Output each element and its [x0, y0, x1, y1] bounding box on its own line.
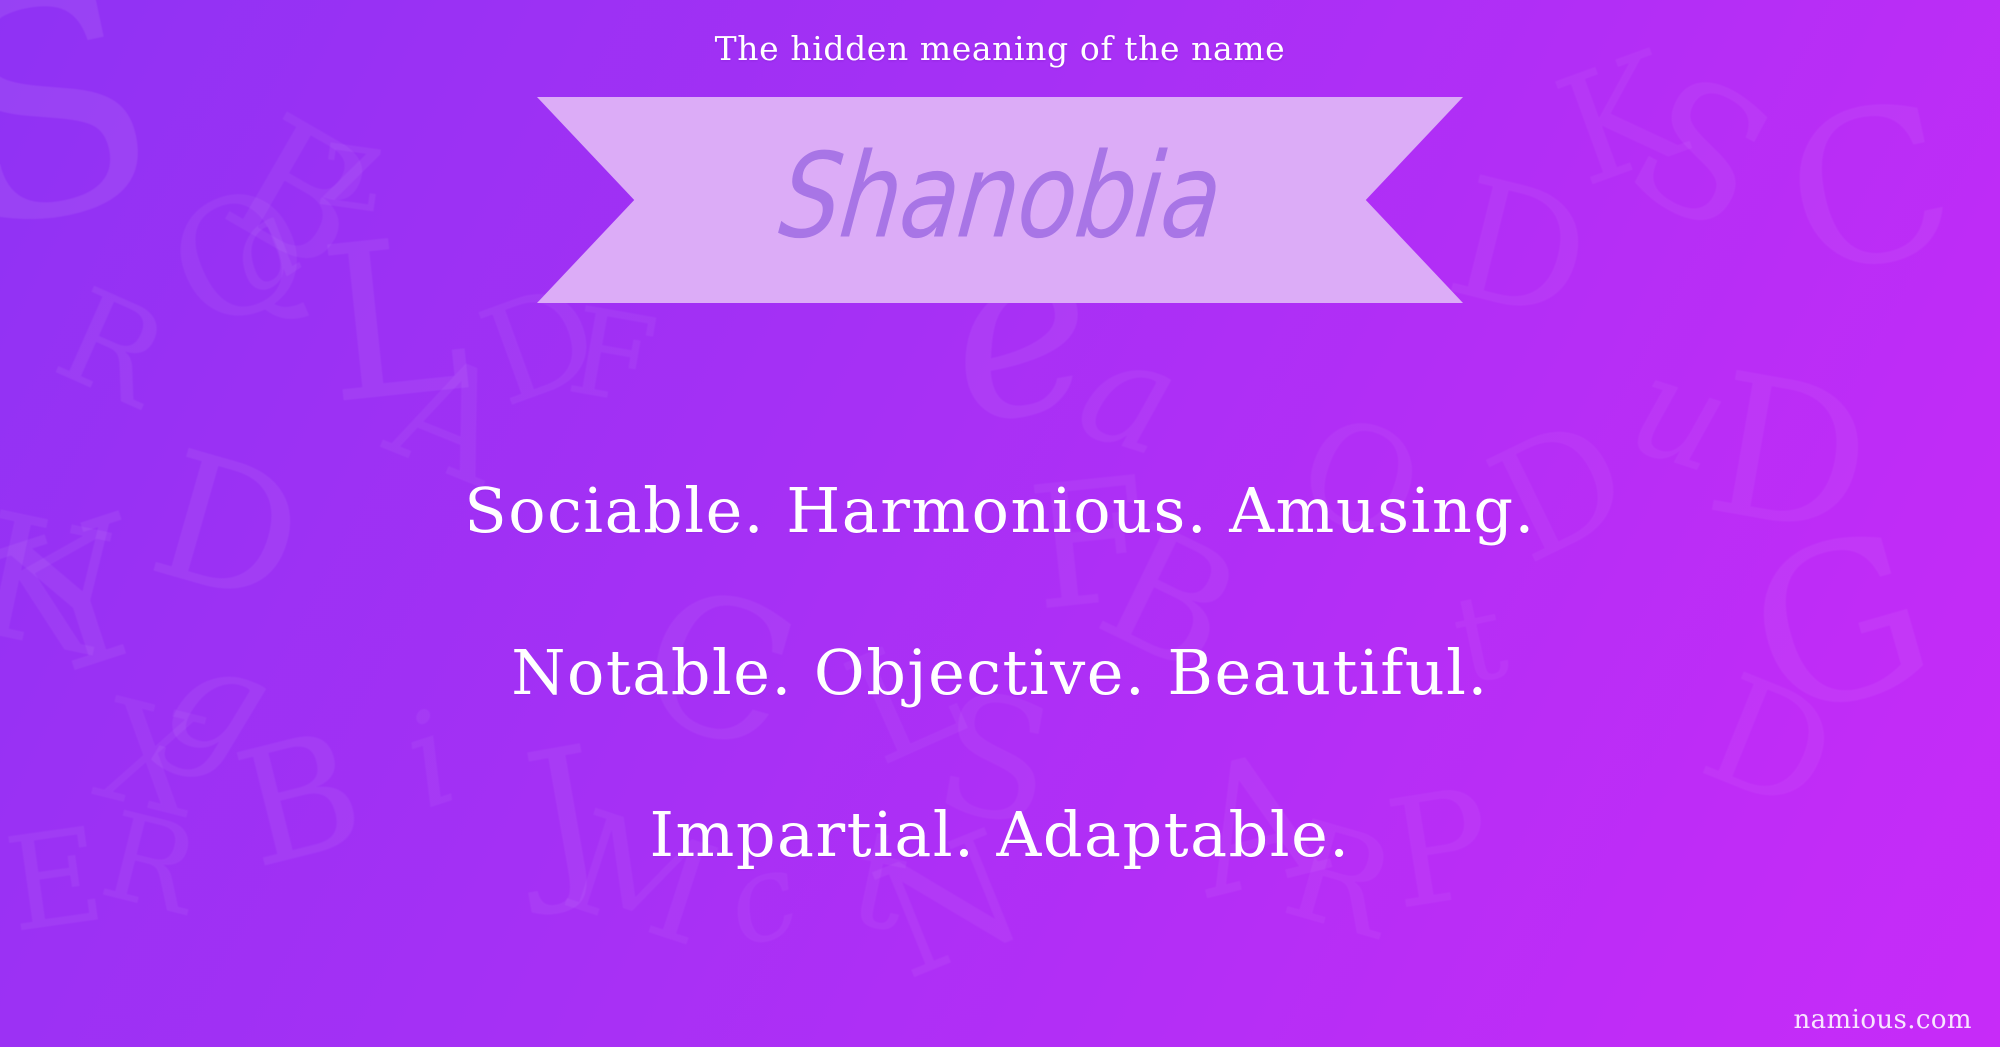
- name-banner: Shanobia: [537, 97, 1463, 303]
- name-meaning-card: SRDazYKERgBLADFBQCJMctNeaFBARPDKSCuDDGDt…: [0, 0, 2000, 1047]
- site-watermark: namious.com: [1794, 1007, 1973, 1033]
- meaning-line-1: Sociable. Harmonious. Amusing.: [0, 430, 2000, 592]
- background-letter: C: [1770, 71, 1971, 310]
- background-letter: S: [1603, 47, 1796, 264]
- meaning-line-3: Impartial. Adaptable.: [0, 754, 2000, 916]
- background-letter: a: [205, 183, 319, 311]
- background-letter: F: [561, 292, 664, 425]
- background-letter: R: [41, 269, 183, 428]
- background-letter: B: [203, 90, 396, 300]
- meaning-text-block: Sociable. Harmonious. Amusing. Notable. …: [0, 430, 2000, 916]
- meaning-line-2: Notable. Objective. Beautiful.: [0, 592, 2000, 754]
- background-letter: Q: [148, 158, 333, 358]
- background-letter: z: [312, 104, 391, 232]
- page-title: The hidden meaning of the name: [0, 32, 2000, 65]
- background-letter: L: [313, 206, 477, 435]
- name-text: Shanobia: [774, 138, 1226, 262]
- background-letter: D: [1436, 154, 1604, 346]
